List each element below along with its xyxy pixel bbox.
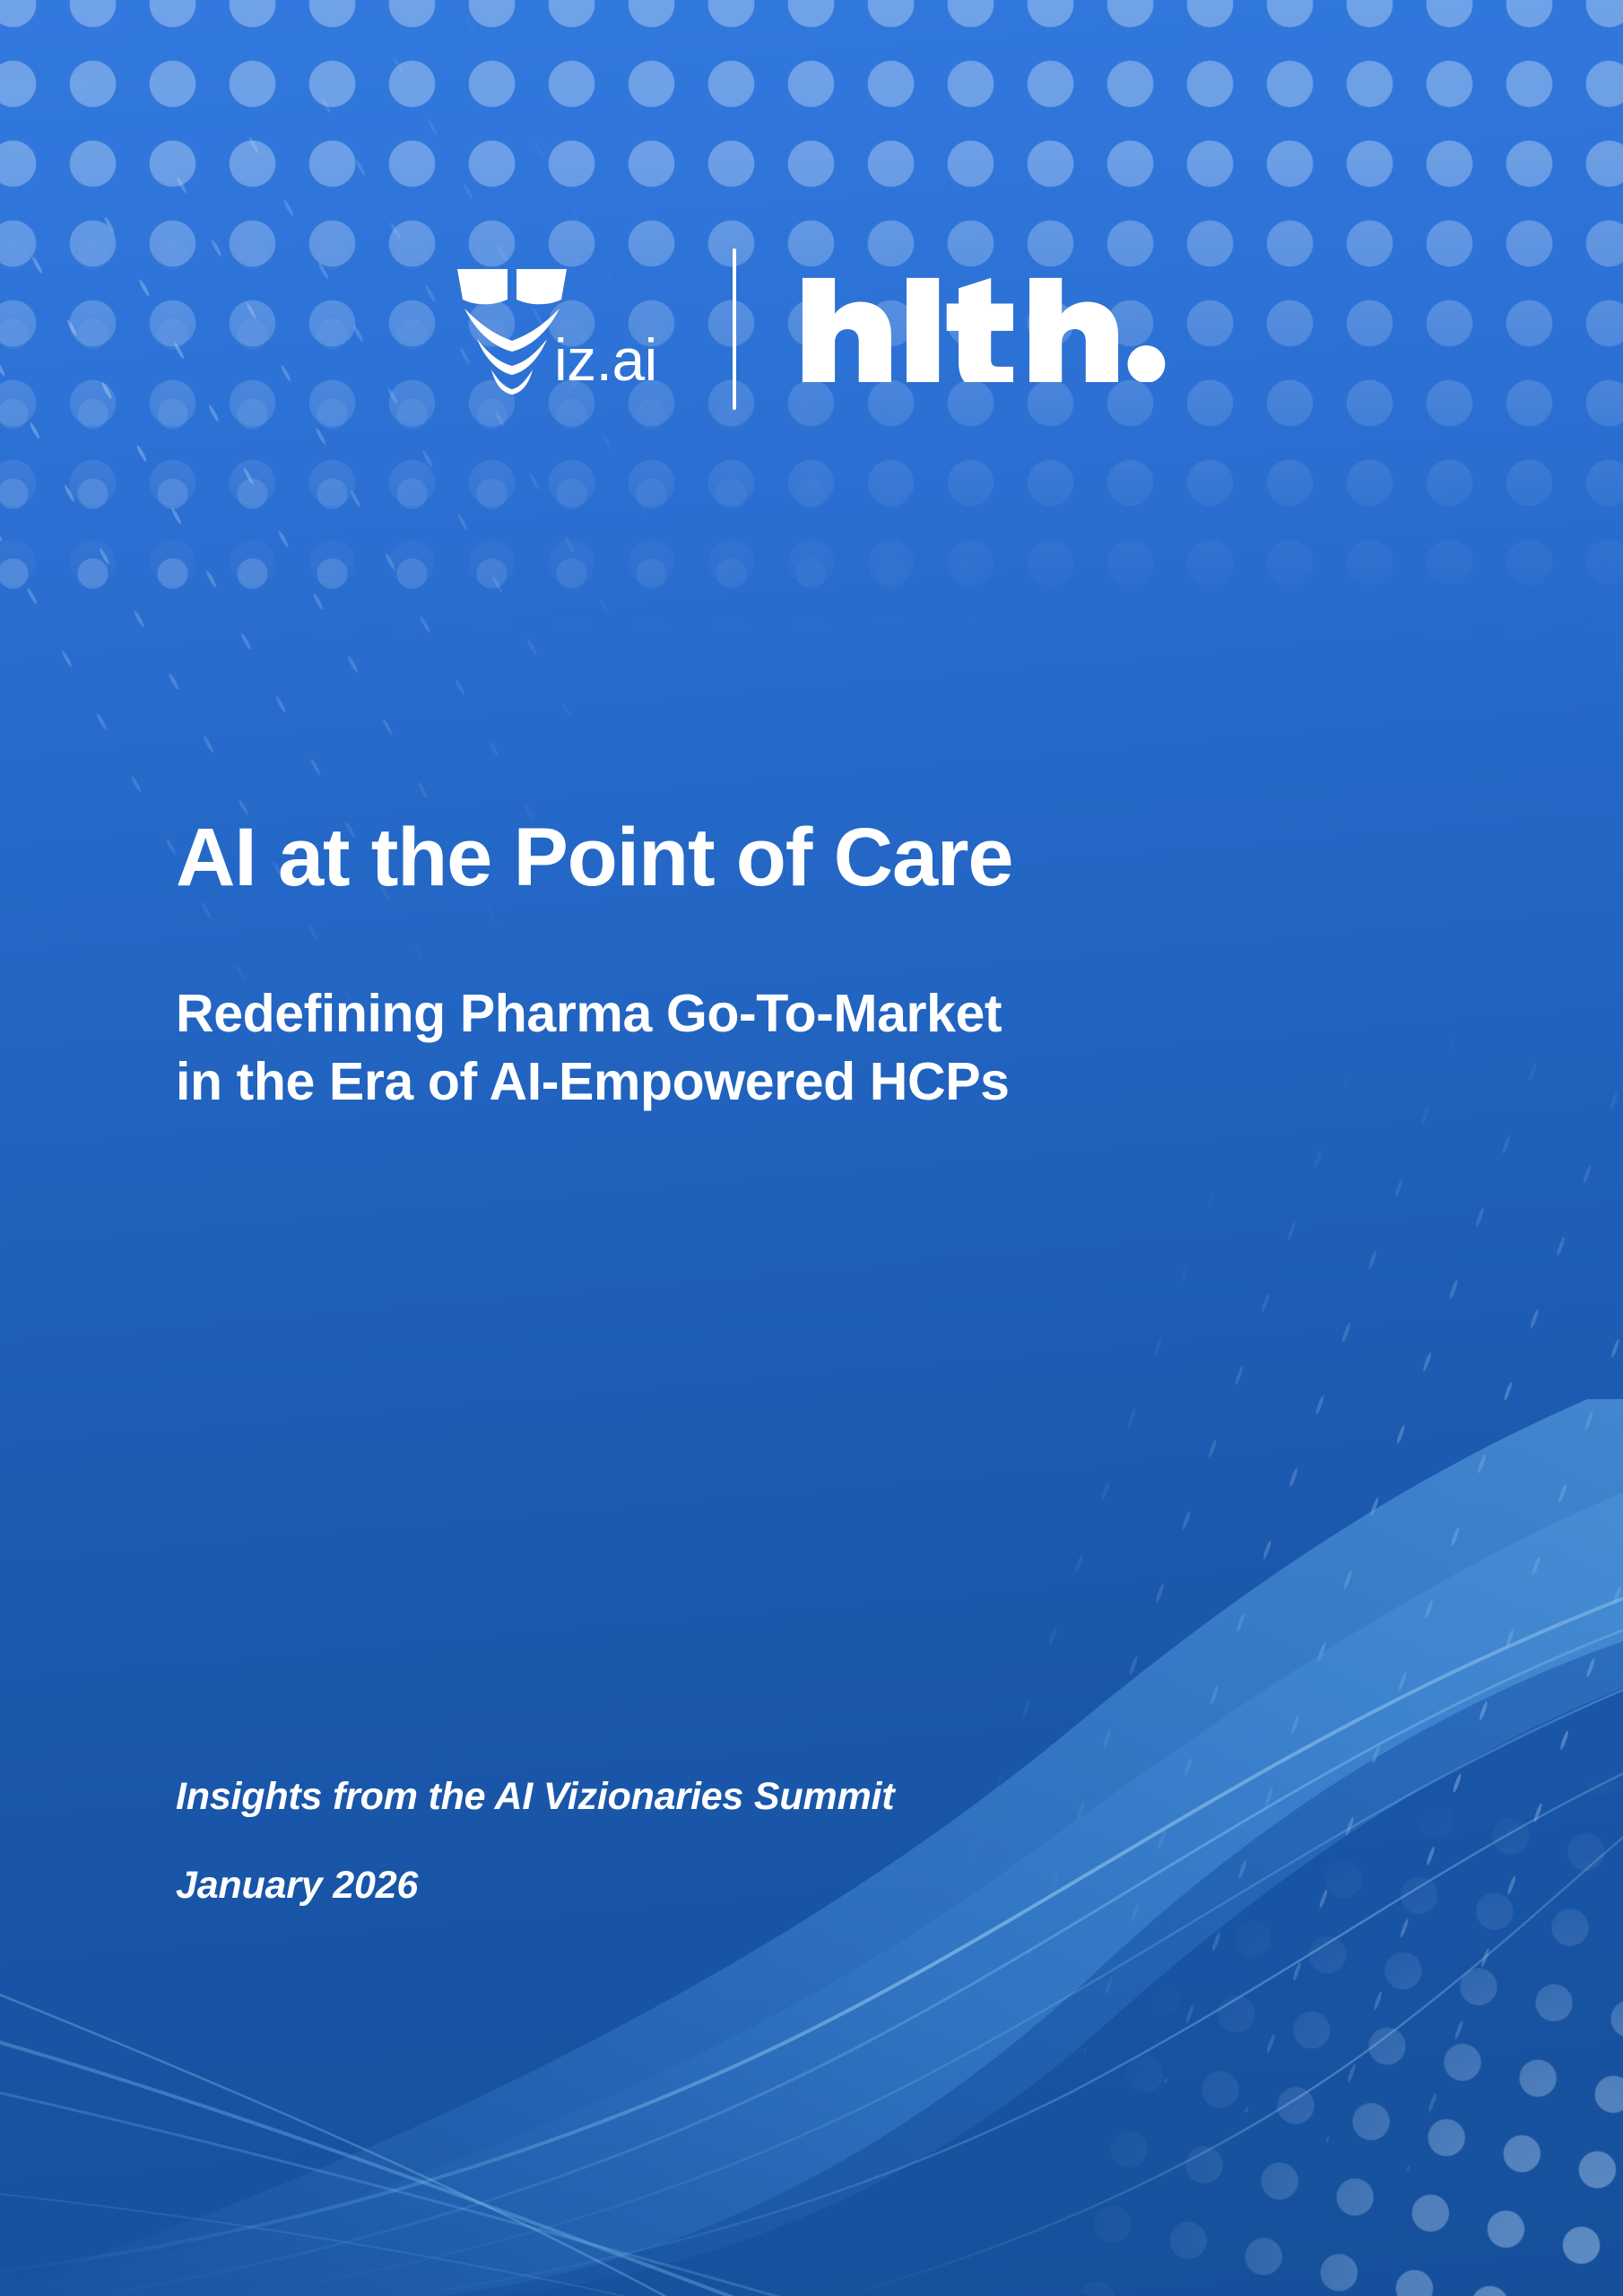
page-subtitle-line-2: in the Era of AI-Empowered HCPs — [176, 1048, 1431, 1117]
hlth-wordmark-icon — [801, 276, 1167, 382]
headline-block: AI at the Point of Care Redefining Pharm… — [176, 814, 1431, 1117]
viz-ai-logo: iz.ai — [456, 262, 657, 396]
report-cover-page: iz.ai — [0, 0, 1623, 2296]
logo-divider — [733, 248, 736, 410]
page-subtitle: Redefining Pharma Go-To-Market in the Er… — [176, 979, 1431, 1117]
logo-lockup: iz.ai — [0, 244, 1623, 414]
cover-content: iz.ai — [0, 0, 1623, 2296]
viz-ai-wordmark: iz.ai — [554, 330, 657, 389]
footer-block: Insights from the AI Vizionaries Summit … — [176, 1778, 1341, 1905]
page-subtitle-line-1: Redefining Pharma Go-To-Market — [176, 979, 1431, 1048]
page-title: AI at the Point of Care — [176, 814, 1431, 902]
footer-source-line: Insights from the AI Vizionaries Summit — [176, 1778, 1341, 1816]
hlth-logo — [801, 275, 1167, 383]
footer-date-line: January 2026 — [176, 1866, 1341, 1905]
viz-ai-chevron-stack-icon — [456, 264, 568, 396]
